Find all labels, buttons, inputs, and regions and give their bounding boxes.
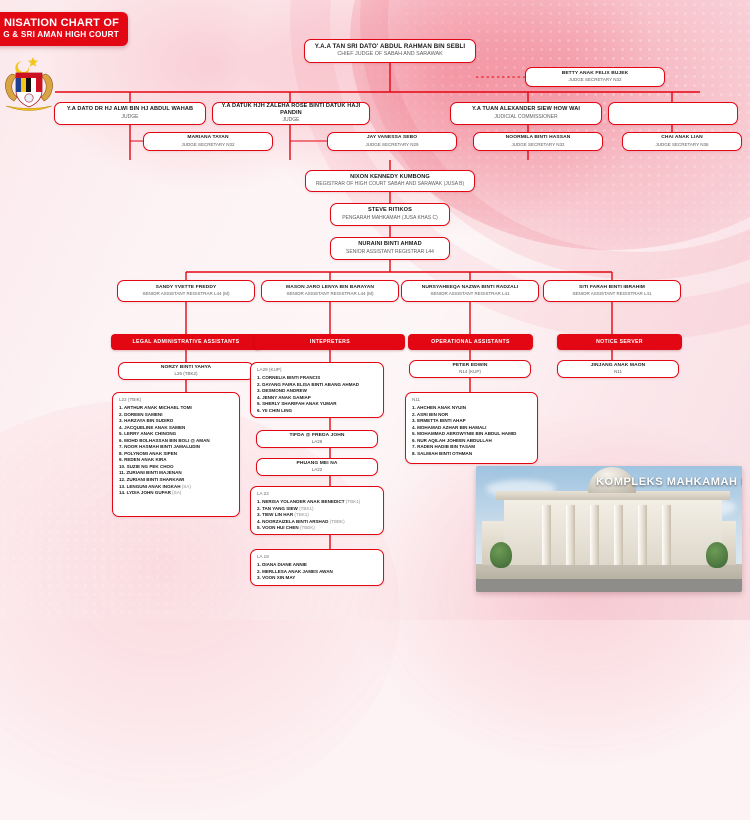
list-item-suffix: (TBK1) [298,506,314,511]
photo-building-caption: KOMPLEKS MAHKAMAH KU [596,476,742,488]
director-title: PENGARAH MAHKAMAH (JUSA KHAS C) [331,215,449,222]
node-judicial-commissioner[interactable]: Y.A TUAN ALEXANDER SIEW HOW WAI JUDICIAL… [450,102,602,125]
photo-road [476,579,742,592]
director-name: STEVE RITIKOS [331,207,449,214]
assistant-registrar-1-title: SENIOR ASSISTANT REGISTRAR L44 (M) [118,291,254,297]
chart-title-line2: G & SRI AMAN HIGH COURT [0,30,119,40]
node-judge-2[interactable]: Y.A DATUK HJH ZALEHA ROSE BINTI DATUK HA… [212,102,370,125]
judge-2-title: JUDGE [213,117,369,124]
interpreters-member-list-bot: DIANA DIANE ANNIEMERLLESA ANAK JAMES AWA… [257,562,378,582]
judge-secretary-3-title: JUDGE SECRETARY N32 [474,142,602,148]
photo-column-1 [542,505,551,565]
node-assistant-registrar-3[interactable]: NURSYAHEEQA NAZWA BINTI RADZALI SENIOR A… [401,280,539,302]
chief-judge-title: CHIEF JUDGE OF SABAH AND SARAWAK [305,51,475,59]
list-interpreters-la29: LA29 (KUP) CORNELIA BINTI FRANCISDAYANG … [250,362,384,418]
node-interpreter-la26[interactable]: TIFDA @ FREDA JOHN LA26 [256,430,378,448]
list-item-suffix: (TBBK) [328,519,344,524]
photo-building-main [504,499,722,565]
list-item-suffix: (TBK1) [293,512,309,517]
node-legal-admin-head[interactable]: NORZY BINTI YAHYA L26 (TBK2) [118,362,254,380]
section-header-interpreters[interactable]: INTEPRETERS [255,334,405,350]
section-header-operational-assistants[interactable]: OPERATIONAL ASSISTANTS [408,334,533,350]
senior-registrar-name: NURAINI BINTI AHMAD [331,241,449,248]
operational-grade: N11 [412,397,532,402]
interpreter-la26-title: LA26 [257,439,377,445]
photo-column-3 [590,505,599,565]
judge-1-name: Y.A DATO DR HJ ALWI BIN HJ ABDUL WAHAB [55,106,205,113]
list-interpreters-la19: LA 19 DIANA DIANE ANNIEMERLLESA ANAK JAM… [250,549,384,586]
section-header-notice-server[interactable]: NOTICE SERVER [557,334,682,350]
node-assistant-registrar-4[interactable]: SITI FARAH BINTI IBRAHIM SENIOR ASSISTAN… [543,280,681,302]
list-item-suffix: (TBK1) [345,499,361,504]
legal-admin-head-title: L26 (TBK2) [119,371,253,377]
interpreters-member-list-top: CORNELIA BINTI FRANCISDAYANG FAIRA ELISA… [257,375,378,414]
judge-3-title: JUDICIAL COMMISSIONER [451,114,601,121]
interpreters-member-list-mid: NERISA YOLANDER ANAK BENEDICT (TBK1)TAN … [257,499,378,532]
node-chief-judge-secretary[interactable]: BETTY ANAK FELIX BUJEK JUDGE SECRETARY N… [525,67,665,87]
node-judge-secretary-2[interactable]: JAY VANESSA SEBO JUDGE SECRETARY N29 [327,132,457,151]
senior-registrar-title: SENIOR ASSISTANT REGISTRAR L44 [331,249,449,256]
judge-2-name: Y.A DATUK HJH ZALEHA ROSE BINTI DATUK HA… [213,103,369,117]
assistant-registrar-2-title: SENIOR ASSISTANT REGISTRAR L44 (M) [262,291,398,297]
list-item: YII CHIN LING [257,408,378,415]
malaysia-coat-of-arms-emblem [0,52,62,114]
node-senior-assistant-registrar[interactable]: NURAINI BINTI AHMAD SENIOR ASSISTANT REG… [330,237,450,260]
interpreters-grade-top: LA29 (KUP) [257,367,378,372]
node-interpreter-la22[interactable]: PHUANG MEI NA LA22 [256,458,378,476]
judge-secretary-4-title: JUDGE SECRETARY N36 [623,142,741,148]
list-interpreters-la22: LA 22 NERISA YOLANDER ANAK BENEDICT (TBK… [250,486,384,535]
courthouse-building-photo: KOMPLEKS MAHKAMAH KU [476,466,742,592]
judge-3-name: Y.A TUAN ALEXANDER SIEW HOW WAI [451,106,601,113]
node-judge-1[interactable]: Y.A DATO DR HJ ALWI BIN HJ ABDUL WAHAB J… [54,102,206,125]
photo-tree-left [490,542,512,568]
operational-head-title: N14 (KUP) [410,369,530,375]
chief-judge-name: Y.A.A TAN SRI DATO' ABDUL RAHMAN BIN SEB… [305,43,475,51]
photo-column-6 [662,505,671,565]
node-chief-judge[interactable]: Y.A.A TAN SRI DATO' ABDUL RAHMAN BIN SEB… [304,39,476,63]
chart-title-banner: NISATION CHART OF G & SRI AMAN HIGH COUR… [0,12,128,46]
chart-title-line1: NISATION CHART OF [0,17,119,30]
list-item: VOON HUI CHEN (TBBK) [257,525,378,532]
registrar-title: REGISTRAR OF HIGH COURT SABAH AND SARAWA… [306,181,474,188]
list-item: NERISA YOLANDER ANAK BENEDICT (TBK1) [257,499,378,506]
assistant-registrar-4-title: SENIOR ASSISTANT REGISTRAR L41 [544,291,680,297]
node-judge-secretary-4[interactable]: CHAI ANAK LIAN JUDGE SECRETARY N36 [622,132,742,151]
list-item: SALMIAH BINTI OTHMAN [412,451,532,458]
chief-judge-secretary-title: JUDGE SECRETARY N32 [526,77,664,83]
judge-secretary-2-title: JUDGE SECRETARY N29 [328,142,456,148]
photo-tree-right [706,542,728,568]
list-item: VOON XIN MAY [257,575,378,582]
node-assistant-registrar-1[interactable]: SANDY YVETTE FREDDY SENIOR ASSISTANT REG… [117,280,255,302]
node-judge-secretary-1[interactable]: MARIANA TAYAN JUDGE SECRETARY N32 [143,132,273,151]
interpreters-grade-bot: LA 19 [257,554,378,559]
node-notice-server[interactable]: JINJANG ANAK MAON N11 [557,360,679,378]
list-operational-assistants: N11 AHCHEN ANAK NYUINASRI BIN NORERMETTA… [405,392,538,464]
emblem-crescent-star [15,57,38,75]
list-item: LYDIA JOHN GUPAR (SA) [119,490,234,497]
list-item-suffix: (SA) [171,490,181,495]
node-judge-vacant[interactable] [608,102,738,125]
node-operational-head[interactable]: PETER EDWIN N14 (KUP) [409,360,531,378]
legal-admin-member-list: ARTHUR ANAK MICHAEL TOMIDOREEN SAMENIHAR… [119,405,234,497]
interpreter-la22-title: LA22 [257,467,377,473]
registrar-name: NIXON KENNEDY KUMBONG [306,174,474,181]
list-item: MOHAMMAD AEROWYNIE BIN ABDUL HAMID [412,431,532,438]
photo-column-4 [614,505,623,565]
node-director[interactable]: STEVE RITIKOS PENGARAH MAHKAMAH (JUSA KH… [330,203,450,226]
judge-1-title: JUDGE [55,114,205,121]
node-registrar[interactable]: NIXON KENNEDY KUMBONG REGISTRAR OF HIGH … [305,170,475,192]
emblem-shield [16,73,42,107]
photo-column-5 [638,505,647,565]
node-judge-secretary-3[interactable]: NOORMILA BINTI HASSAN JUDGE SECRETARY N3… [473,132,603,151]
interpreters-grade-mid: LA 22 [257,491,378,496]
assistant-registrar-3-title: SENIOR ASSISTANT REGISTRAR L41 [402,291,538,297]
list-item-suffix: (SA) [180,484,190,489]
photo-column-2 [566,505,575,565]
legal-admin-grade: L22 (TBIK) [119,397,234,402]
notice-server-title: N11 [558,369,678,375]
operational-member-list: AHCHEN ANAK NYUINASRI BIN NORERMETTA BIN… [412,405,532,457]
judge-secretary-1-title: JUDGE SECRETARY N32 [144,142,272,148]
list-legal-administrative-assistants: L22 (TBIK) ARTHUR ANAK MICHAEL TOMIDOREE… [112,392,240,517]
section-header-legal-administrative-assistants[interactable]: LEGAL ADMINISTRATIVE ASSISTANTS [111,334,261,350]
list-item-suffix: (TBBK) [299,525,315,530]
node-assistant-registrar-2[interactable]: MASON JARO LENYA BIN BARAYAN SENIOR ASSI… [261,280,399,302]
